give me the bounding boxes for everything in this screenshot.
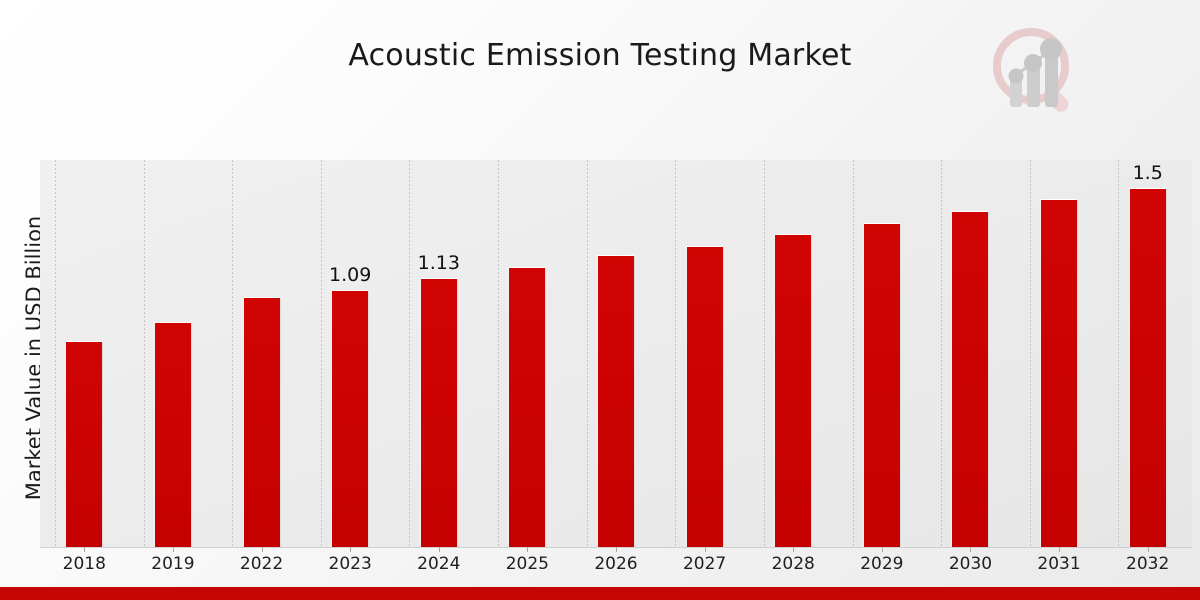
x-axis-label-2030: 2030 (925, 554, 1015, 574)
bar-value-label-2023: 1.09 (310, 264, 390, 286)
bar-2019[interactable] (154, 322, 192, 547)
gridline (409, 160, 410, 547)
footer-strip (0, 587, 1200, 600)
x-axis-tick (882, 547, 883, 552)
gridline (764, 160, 765, 547)
x-axis-tick (527, 547, 528, 552)
bar-2018[interactable] (65, 341, 103, 547)
magnifier-bar-chart-logo-icon (983, 22, 1087, 118)
x-axis-tick (1148, 547, 1149, 552)
bar-2025[interactable] (508, 267, 546, 547)
x-axis-label-2023: 2023 (305, 554, 395, 574)
gridline (675, 160, 676, 547)
x-axis-label-2025: 2025 (482, 554, 572, 574)
gridline (321, 160, 322, 547)
bar-2022[interactable] (243, 297, 281, 547)
x-axis-tick (970, 547, 971, 552)
x-axis-label-2029: 2029 (837, 554, 927, 574)
bar-value-label-2024: 1.13 (399, 252, 479, 274)
x-axis-label-2024: 2024 (394, 554, 484, 574)
bar-2027[interactable] (686, 246, 724, 547)
bar-2024[interactable] (420, 278, 458, 547)
x-axis-tick (705, 547, 706, 552)
x-axis-tick (439, 547, 440, 552)
x-axis-label-2026: 2026 (571, 554, 661, 574)
x-axis-tick (262, 547, 263, 552)
bar-2023[interactable] (331, 290, 369, 547)
gridline (1118, 160, 1119, 547)
bar-value-label-2032: 1.5 (1108, 162, 1188, 184)
bar-2026[interactable] (597, 255, 635, 547)
x-axis-label-2031: 2031 (1014, 554, 1104, 574)
x-axis-tick (84, 547, 85, 552)
x-axis-label-2018: 2018 (39, 554, 129, 574)
bar-2030[interactable] (951, 211, 989, 547)
x-axis-label-2028: 2028 (748, 554, 838, 574)
gridline (941, 160, 942, 547)
chart-canvas: Acoustic Emission Testing Market Market … (0, 0, 1200, 600)
gridline (232, 160, 233, 547)
gridline (853, 160, 854, 547)
x-axis-tick (173, 547, 174, 552)
x-axis-label-2027: 2027 (660, 554, 750, 574)
gridline (1030, 160, 1031, 547)
plot-area (40, 160, 1192, 547)
bar-2028[interactable] (774, 234, 812, 547)
x-axis-tick (1059, 547, 1060, 552)
gridline (498, 160, 499, 547)
gridline (55, 160, 56, 547)
gridline (587, 160, 588, 547)
bar-2031[interactable] (1040, 199, 1078, 547)
x-axis-label-2022: 2022 (217, 554, 307, 574)
x-axis-tick (350, 547, 351, 552)
x-axis-tick (616, 547, 617, 552)
x-axis-label-2019: 2019 (128, 554, 218, 574)
x-axis-label-2032: 2032 (1103, 554, 1193, 574)
gridline (144, 160, 145, 547)
bar-2032[interactable] (1129, 188, 1167, 547)
bar-2029[interactable] (863, 223, 901, 547)
x-axis-tick (793, 547, 794, 552)
